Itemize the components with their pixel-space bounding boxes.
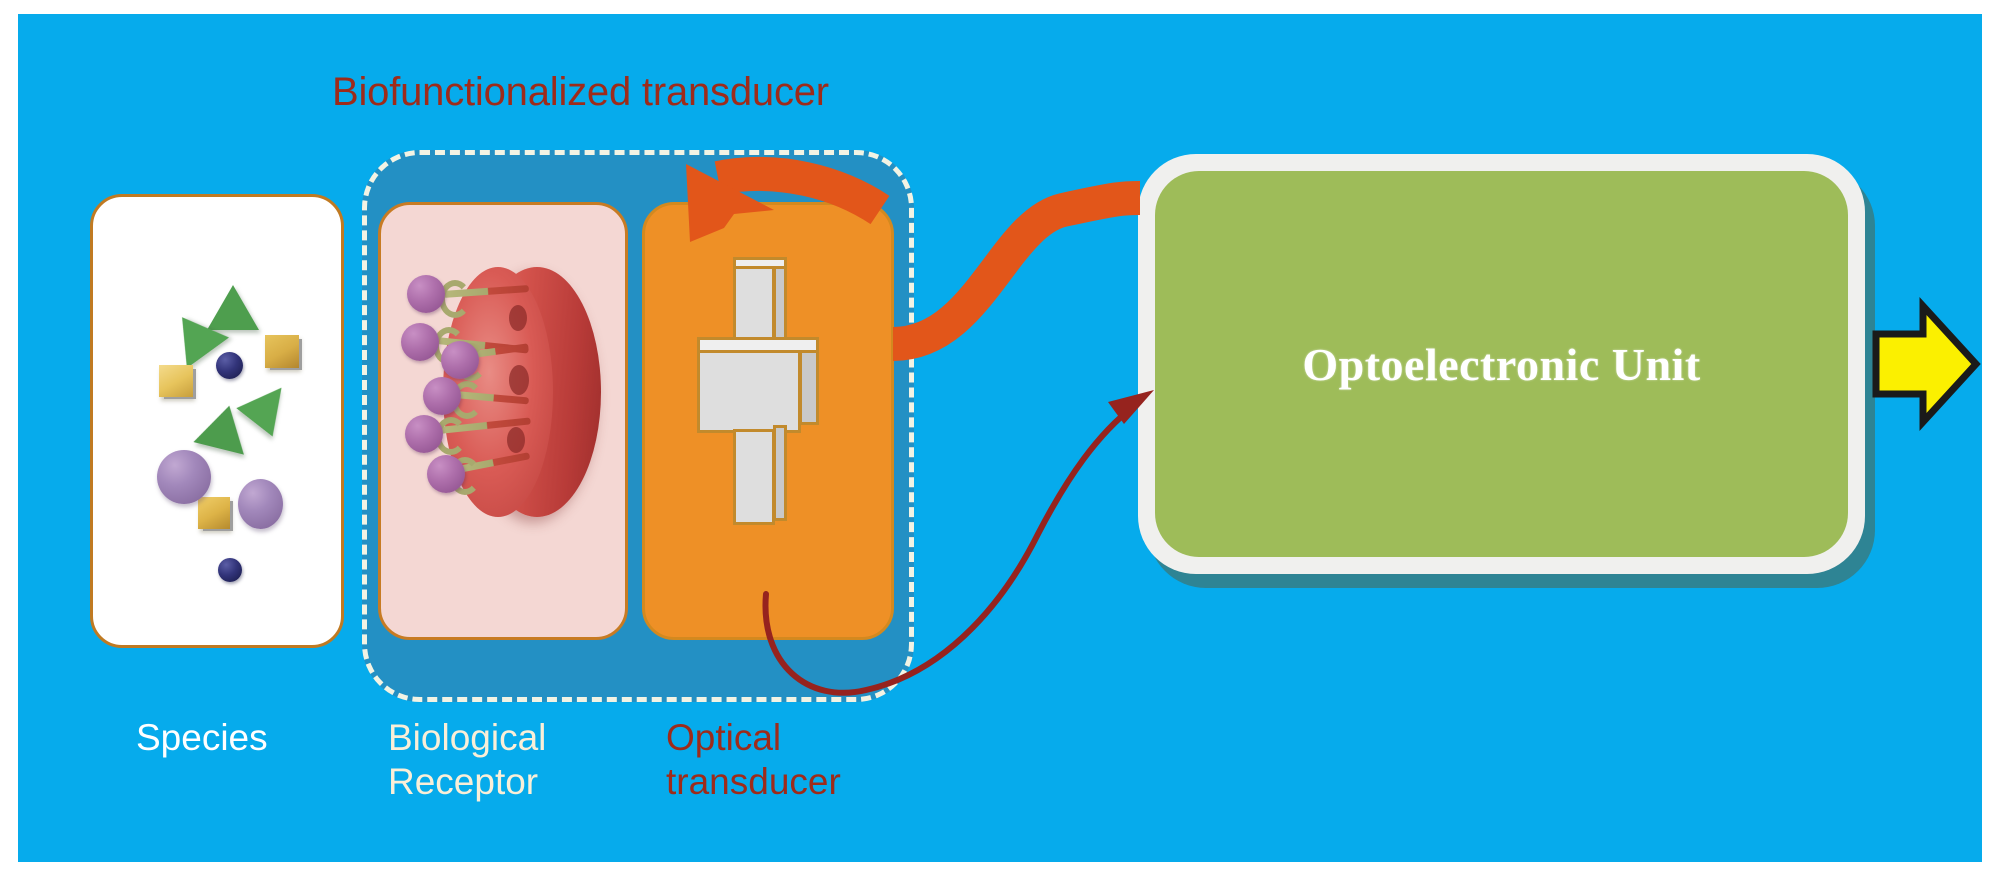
optical-caption: Optical transducer: [666, 716, 841, 803]
page-title: Biofunctionalized transducer: [332, 70, 829, 115]
biological-receptor-box[interactable]: [378, 202, 628, 640]
purple-sphere-icon: [238, 479, 283, 529]
waveguide-icon: [645, 205, 891, 637]
optoelectronic-unit-label: Optoelectronic Unit: [1302, 338, 1700, 391]
analyte-particles-icon: [93, 197, 341, 645]
right-arrow-icon[interactable]: [1876, 306, 1976, 422]
receptor-ball-icon: [405, 415, 443, 453]
optoelectronic-unit[interactable]: Optoelectronic Unit: [1155, 171, 1848, 557]
receptor-caption: Biological Receptor: [388, 716, 546, 803]
optical-transducer-box[interactable]: [642, 202, 894, 640]
receptor-disc-icon: [381, 205, 625, 637]
purple-sphere-icon: [157, 450, 211, 504]
gold-cube-icon: [265, 335, 299, 368]
receptor-ball-icon: [423, 377, 461, 415]
navy-sphere-icon: [216, 352, 243, 379]
diagram-panel: Biofunctionalized transducer: [18, 14, 1982, 862]
receptor-ball-icon: [401, 323, 439, 361]
receptor-ball-icon: [407, 275, 445, 313]
receptor-ball-icon: [441, 341, 479, 379]
gold-cube-icon: [198, 497, 230, 529]
species-caption: Species: [136, 716, 268, 760]
navy-sphere-icon: [218, 558, 242, 582]
species-box[interactable]: [90, 194, 344, 648]
receptor-ball-icon: [427, 455, 465, 493]
figure-root: Biofunctionalized transducer: [0, 0, 2000, 876]
gold-cube-icon: [159, 365, 193, 397]
